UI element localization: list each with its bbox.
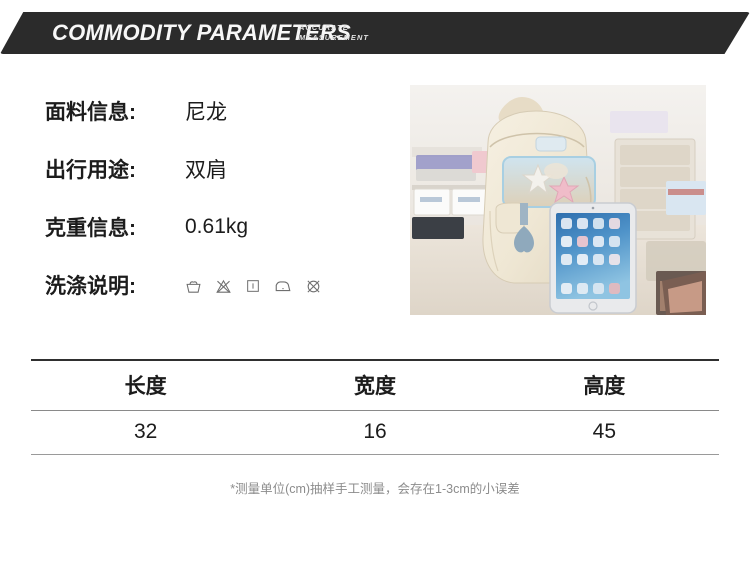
do-not-bleach-icon	[215, 278, 232, 295]
header-banner: COMMODITY PARAMETERS ACCURATEMEASUREMENT	[0, 12, 750, 54]
spec-row-fabric: 面料信息: 尼龙	[45, 82, 385, 140]
table-header-width: 宽度	[260, 361, 489, 410]
spec-value-weight: 0.61kg	[185, 215, 248, 239]
tumble-dry-icon	[245, 278, 261, 294]
dimensions-table: 长度 宽度 高度 32 16 45	[31, 359, 719, 455]
table-rule-bottom	[31, 454, 719, 455]
spec-value-fabric: 尼龙	[185, 96, 227, 126]
spec-label-usage: 出行用途:	[45, 154, 185, 184]
table-value-height: 45	[490, 411, 719, 454]
table-value-length: 32	[31, 411, 260, 454]
banner-subtitle-line2: MEASUREMENT	[299, 33, 369, 42]
spec-label-weight: 克重信息:	[45, 212, 185, 242]
care-symbol-group	[185, 275, 322, 295]
spec-row-care: 洗涤说明:	[45, 256, 385, 314]
spec-label-fabric: 面料信息:	[45, 96, 185, 126]
spec-row-weight: 克重信息: 0.61kg	[45, 198, 385, 256]
spec-list: 面料信息: 尼龙 出行用途: 双肩 克重信息: 0.61kg 洗涤说明:	[45, 82, 385, 314]
product-photo	[410, 85, 706, 315]
table-header-height: 高度	[490, 361, 719, 410]
table-header-length: 长度	[31, 361, 260, 410]
measurement-footnote: *测量单位(cm)抽样手工测量，会存在1-3cm的小误差	[0, 478, 750, 497]
banner-subtitle-line1: ACCURATE	[299, 23, 349, 32]
table-value-width: 16	[260, 411, 489, 454]
banner-subtitle: ACCURATEMEASUREMENT	[299, 23, 369, 42]
spec-value-usage: 双肩	[185, 154, 227, 184]
table-value-row: 32 16 45	[31, 411, 719, 454]
spec-label-care: 洗涤说明:	[45, 270, 185, 300]
hand-wash-tub-icon	[185, 278, 202, 295]
do-not-dry-clean-icon	[305, 278, 322, 295]
table-header-row: 长度 宽度 高度	[31, 361, 719, 410]
iron-icon	[274, 277, 292, 295]
spec-row-usage: 出行用途: 双肩	[45, 140, 385, 198]
